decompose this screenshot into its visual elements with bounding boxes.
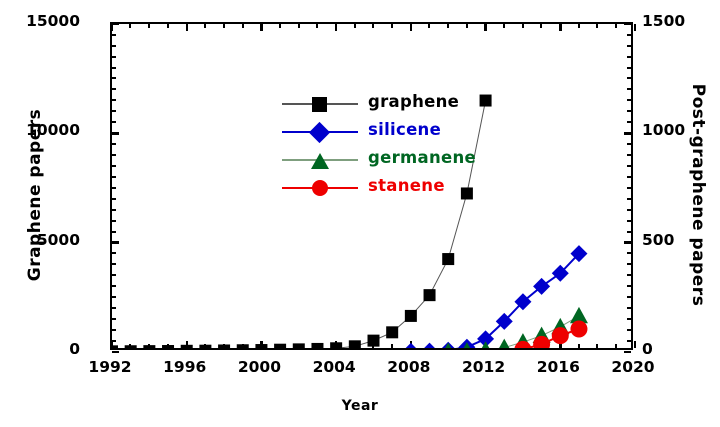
data-point-silicene	[402, 343, 419, 348]
data-point-stanene	[514, 341, 531, 348]
legend-key-silicene	[282, 118, 358, 146]
y-axis-right-tick-label: 0	[642, 340, 653, 358]
series-stanene	[514, 321, 587, 348]
y-axis-right-title: Post-graphene papers	[688, 75, 708, 315]
data-point-graphene	[112, 345, 118, 348]
data-point-graphene	[162, 345, 174, 348]
data-point-graphene	[386, 326, 398, 338]
legend-label-silicene: silicene	[368, 120, 441, 139]
plot-area: graphenesilicenegermanenestanene	[110, 22, 633, 350]
legend-key-germanene	[282, 146, 358, 174]
data-point-graphene	[480, 95, 492, 107]
legend-label-graphene: graphene	[368, 92, 459, 111]
legend-marker-triangle-icon	[311, 153, 329, 169]
data-point-stanene	[570, 321, 587, 338]
data-point-graphene	[255, 344, 267, 348]
legend-label-germanene: germanene	[368, 148, 476, 167]
x-tick-major	[634, 341, 637, 348]
data-point-graphene	[293, 343, 305, 348]
y-axis-left-title: Graphene papers	[25, 75, 45, 315]
x-axis-tick-label: 2020	[611, 358, 654, 376]
legend-marker-square-icon	[312, 97, 327, 112]
y-axis-right-tick-label: 500	[642, 231, 674, 249]
data-point-graphene	[442, 253, 454, 265]
y-axis-tick-label: 15000	[26, 12, 80, 30]
x-axis-tick-label: 1992	[88, 358, 131, 376]
x-axis-tick-label: 2008	[387, 358, 430, 376]
chart-figure: Graphene papers Post-graphene papers Yea…	[0, 0, 720, 427]
data-point-graphene	[181, 345, 193, 348]
y-axis-right-tick-label: 1500	[642, 12, 685, 30]
legend-label-stanene: stanene	[368, 176, 445, 195]
y-axis-right-tick-label: 1000	[642, 121, 685, 139]
data-point-graphene	[330, 342, 342, 348]
x-axis-tick-label: 1996	[163, 358, 206, 376]
data-point-graphene	[368, 335, 380, 347]
data-point-germanene	[439, 343, 457, 348]
series-line-stanene	[523, 329, 579, 348]
y-axis-tick-label: 5000	[37, 231, 80, 249]
data-point-graphene	[461, 187, 473, 199]
data-point-graphene	[218, 344, 230, 348]
data-point-graphene	[311, 343, 323, 348]
data-point-graphene	[274, 344, 286, 348]
x-axis-tick-label: 2012	[462, 358, 505, 376]
legend-key-stanene	[282, 174, 358, 202]
legend-marker-circle-icon	[312, 180, 328, 196]
y-tick-major	[112, 351, 119, 354]
data-point-graphene	[237, 344, 249, 348]
legend-marker-diamond-icon	[309, 122, 330, 143]
data-point-graphene	[125, 345, 137, 348]
y-axis-tick-label: 0	[69, 340, 80, 358]
y-axis-tick-label: 10000	[26, 121, 80, 139]
data-point-graphene	[143, 345, 155, 348]
x-top-tick-major	[634, 24, 637, 31]
x-axis-title: Year	[0, 398, 720, 414]
x-axis-tick-label: 2004	[313, 358, 356, 376]
y-right-tick-major	[624, 351, 631, 354]
data-point-graphene	[199, 345, 211, 348]
data-point-stanene	[552, 327, 569, 344]
data-point-silicene	[421, 343, 438, 348]
data-point-graphene	[405, 310, 417, 322]
x-axis-tick-label: 2000	[238, 358, 281, 376]
x-axis-tick-label: 2016	[537, 358, 580, 376]
data-point-graphene	[349, 340, 361, 348]
legend-key-graphene	[282, 90, 358, 118]
data-point-graphene	[424, 289, 436, 301]
data-point-germanene	[495, 339, 513, 348]
